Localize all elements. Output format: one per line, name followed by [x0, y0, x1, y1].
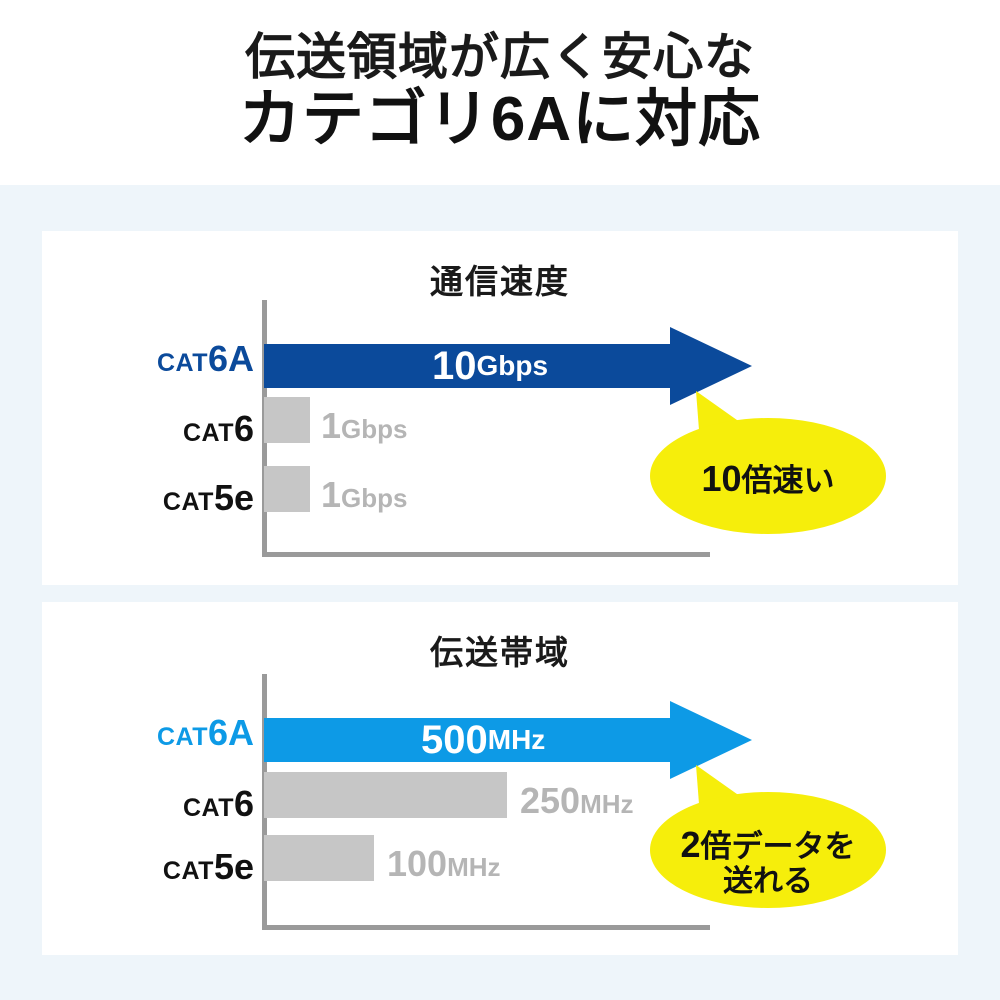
chart-bar-value-cat6: 1Gbps — [321, 408, 407, 444]
callout-speed: 10倍速い — [648, 391, 888, 536]
cat-prefix: CAT — [183, 419, 234, 447]
chart-category-label-cat6: CAT6 — [183, 786, 254, 822]
cat-prefix: CAT — [163, 488, 214, 516]
bar-value-unit: MHz — [447, 852, 500, 882]
bar-value-number: 1 — [321, 405, 341, 446]
callout-label: 倍データを — [701, 829, 856, 864]
page-title-line-2: カテゴリ6Aに対応 — [239, 86, 761, 154]
chart-bar-value-cat6: 250MHz — [520, 783, 634, 819]
bar-value-unit: Gbps — [477, 352, 549, 380]
callout-number: 10 — [701, 458, 741, 499]
chart-bar-value-cat5e: 1Gbps — [321, 477, 407, 513]
chart-bar-value-cat5e: 100MHz — [387, 846, 501, 882]
bar-value-unit: MHz — [580, 789, 633, 819]
cat-number: 5e — [214, 846, 254, 887]
bar-value-number: 250 — [520, 780, 580, 821]
chart-bar-cat6 — [264, 772, 507, 818]
cat-number: 6A — [208, 712, 254, 753]
panel-transmission-bandwidth: 伝送帯域 CAT6A 500MHz CAT6 250MHz CAT5e — [42, 602, 958, 955]
chart-bar-cat5e — [264, 466, 310, 512]
page-title-line-1: 伝送領域が広く安心な — [245, 30, 755, 84]
bar-value-unit: Gbps — [341, 414, 407, 444]
bar-value-number: 1 — [321, 474, 341, 515]
chart-bar-cat6 — [264, 397, 310, 443]
cat-number: 6 — [234, 783, 254, 824]
chart-category-label-cat5e: CAT5e — [163, 480, 254, 516]
callout-line-2: 送れる — [648, 865, 888, 899]
bar-value-number: 500 — [421, 720, 488, 760]
bar-value-unit: MHz — [488, 726, 546, 754]
cat-number: 6A — [208, 338, 254, 379]
chart-transmission-bandwidth: CAT6A 500MHz CAT6 250MHz CAT5e 100MHz — [42, 602, 958, 955]
chart-bar-value-cat6a: 500MHz — [421, 701, 545, 779]
callout-line-1: 2倍データを — [648, 825, 888, 865]
chart-bar-value-cat6a: 10Gbps — [432, 327, 548, 405]
cat-number: 5e — [214, 477, 254, 518]
chart-axis-horizontal — [262, 925, 710, 930]
callout-number: 2 — [680, 824, 700, 865]
cat-prefix: CAT — [157, 349, 208, 377]
callout-bandwidth: 2倍データを 送れる — [648, 765, 888, 910]
cat-number: 6 — [234, 408, 254, 449]
chart-bar-cat5e — [264, 835, 374, 881]
callout-text-bandwidth: 2倍データを 送れる — [648, 825, 888, 899]
bar-value-unit: Gbps — [341, 483, 407, 513]
chart-axis-horizontal — [262, 552, 710, 557]
chart-category-label-cat6a: CAT6A — [157, 341, 254, 377]
chart-category-label-cat6: CAT6 — [183, 411, 254, 447]
callout-label: 倍速い — [742, 463, 835, 498]
bar-value-number: 100 — [387, 843, 447, 884]
bar-value-number: 10 — [432, 346, 477, 386]
callout-text-speed: 10倍速い — [648, 459, 888, 499]
chart-communication-speed: CAT6A 10Gbps CAT6 1Gbps CAT5e 1Gbps — [42, 231, 958, 585]
cat-prefix: CAT — [163, 857, 214, 885]
cat-prefix: CAT — [157, 723, 208, 751]
page-header: 伝送領域が広く安心な カテゴリ6Aに対応 — [0, 0, 1000, 185]
chart-category-label-cat5e: CAT5e — [163, 849, 254, 885]
panel-communication-speed: 通信速度 CAT6A 10Gbps CAT6 1Gbps CAT5e — [42, 231, 958, 585]
chart-category-label-cat6a: CAT6A — [157, 715, 254, 751]
cat-prefix: CAT — [183, 794, 234, 822]
